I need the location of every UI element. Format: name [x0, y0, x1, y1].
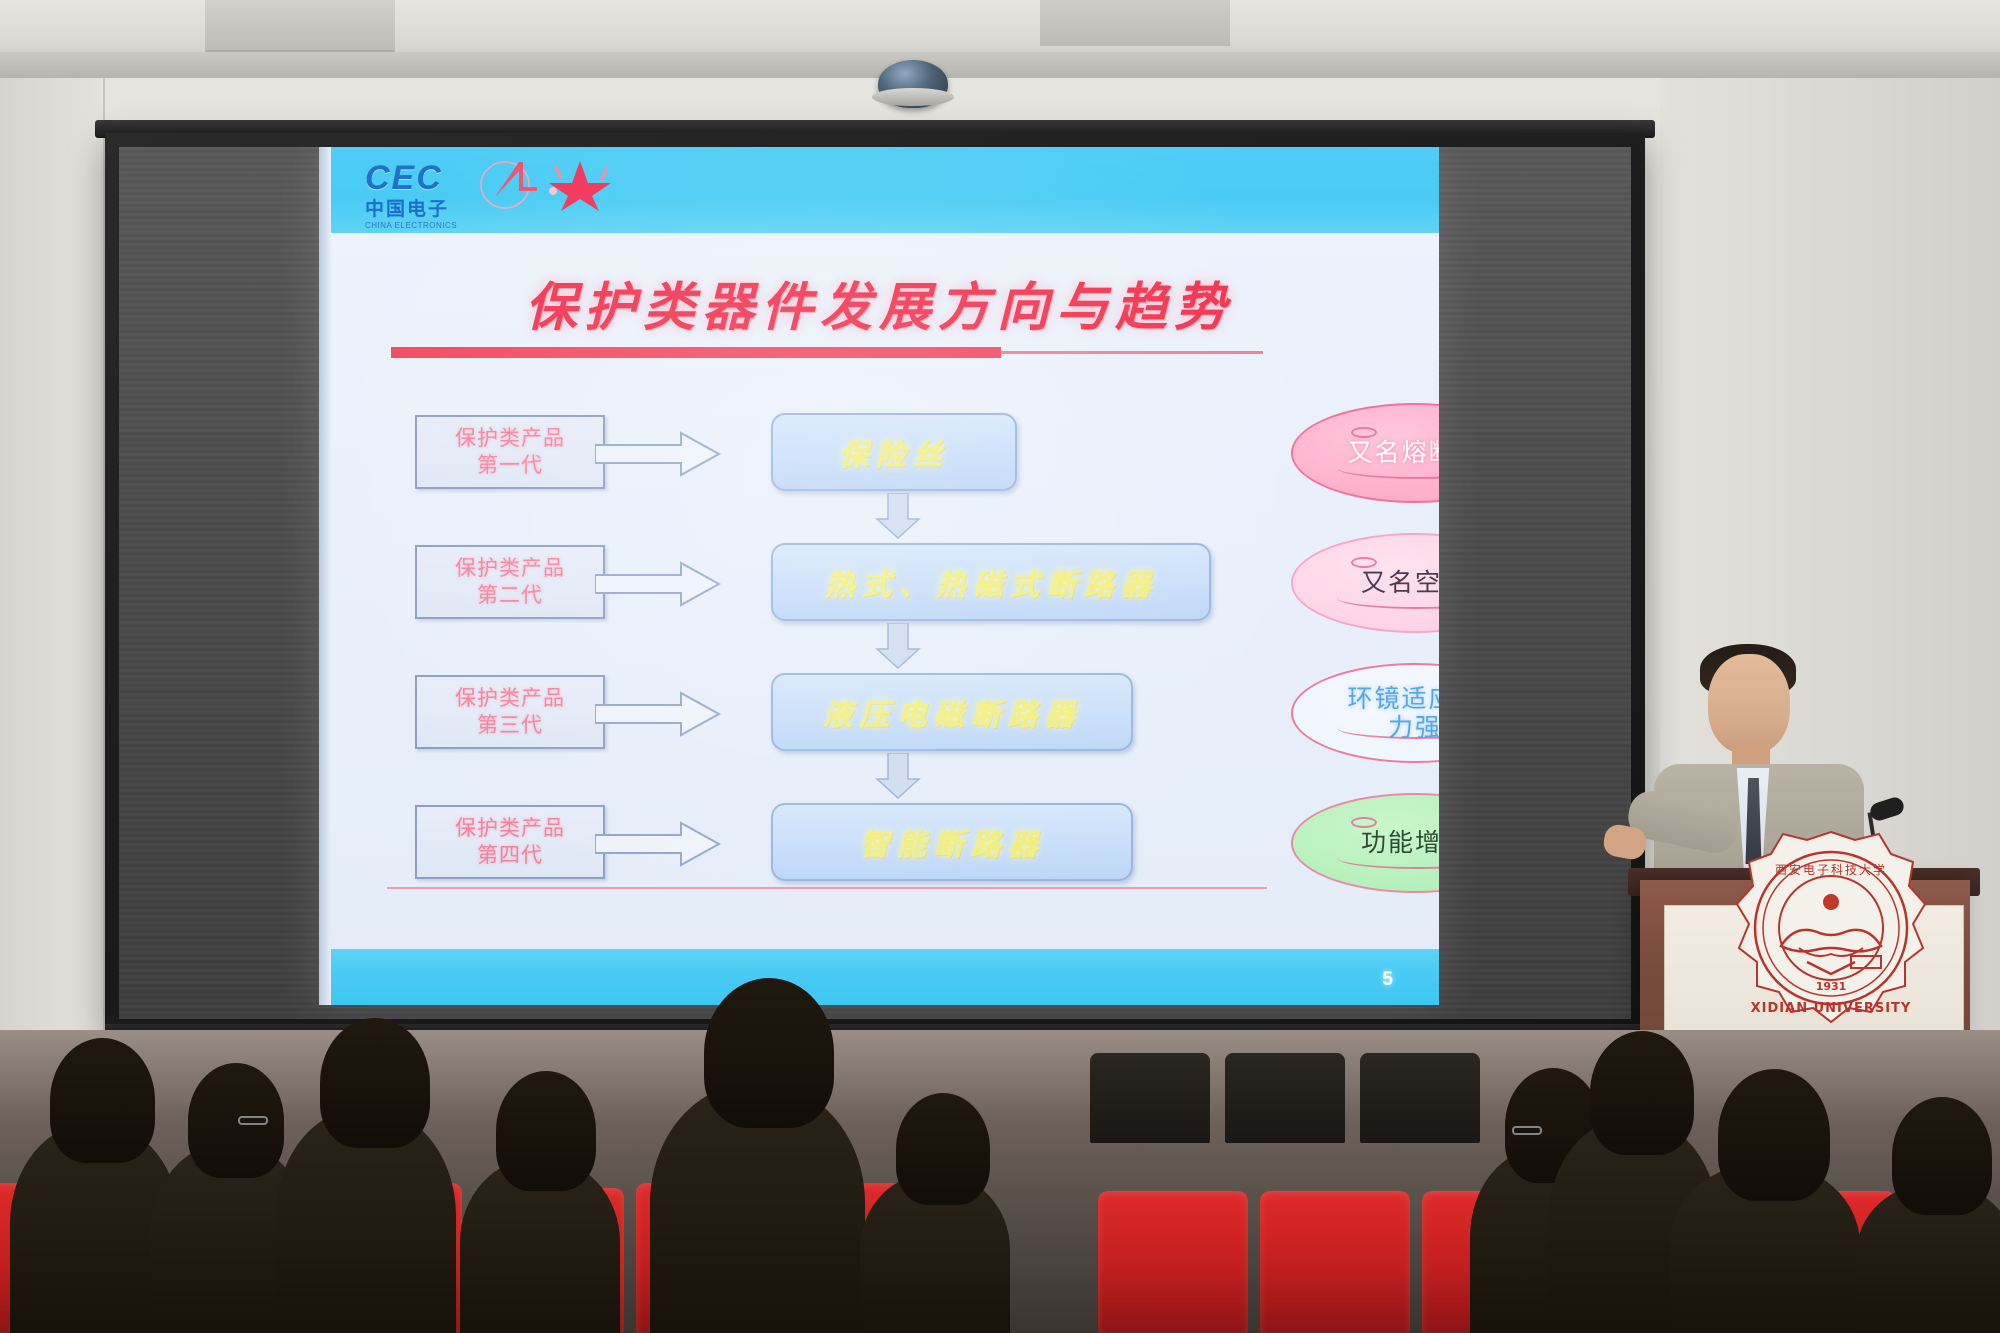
- seat: [1090, 1053, 1210, 1143]
- audience-member: [704, 978, 834, 1128]
- generation-label-line1: 保护类产品: [455, 425, 565, 452]
- lecture-room: CEC 中国电子 CHINA ELECTRONICS: [0, 0, 2000, 1333]
- eyeglasses-icon: [1512, 1126, 1542, 1135]
- cec-logo-cn: 中国电子: [365, 200, 457, 219]
- arrow-right-icon: [595, 821, 721, 867]
- title-underline-thick: [391, 347, 1001, 358]
- ceiling-vent: [205, 0, 395, 52]
- arrow-right-icon: [595, 561, 721, 607]
- generation-label-line2: 第三代: [477, 712, 543, 739]
- diagram-row: 保护类产品 第二代 热式、热磁式断路器 又名空开: [319, 527, 1439, 657]
- face-eye-left-icon: [1351, 557, 1377, 568]
- product-label: 热式、热磁式断路器: [825, 560, 1158, 604]
- screen-surface: CEC 中国电子 CHINA ELECTRONICS: [119, 147, 1631, 1019]
- product-label: 智能断路器: [860, 820, 1045, 864]
- cec-logo: CEC 中国电子 CHINA ELECTRONICS: [365, 161, 457, 230]
- eyeglasses-icon: [238, 1116, 268, 1125]
- generation-label-box: 保护类产品 第三代: [415, 675, 605, 749]
- ceiling-vent-secondary: [1040, 0, 1230, 46]
- audience-member: [896, 1093, 990, 1205]
- face-smile-icon: [1337, 717, 1439, 739]
- generation-label-box: 保护类产品 第四代: [415, 805, 605, 879]
- generation-label-box: 保护类产品 第二代: [415, 545, 605, 619]
- arrow-right-icon: [595, 691, 721, 737]
- diagram-rows: 保护类产品 第一代 保险丝 又名熔断器: [319, 397, 1439, 917]
- generation-label-line2: 第一代: [477, 452, 543, 479]
- presentation-slide: CEC 中国电子 CHINA ELECTRONICS: [319, 147, 1439, 1005]
- cec-logo-en: CHINA ELECTRONICS: [365, 222, 457, 230]
- title-underline-thin: [1001, 351, 1263, 354]
- seat: [1098, 1191, 1248, 1333]
- camera-ring: [872, 88, 954, 106]
- product-box: 智能断路器: [771, 803, 1133, 881]
- generation-label-line1: 保护类产品: [455, 555, 565, 582]
- product-box: 液压电磁断路器: [771, 673, 1133, 751]
- slide-header-band: CEC 中国电子 CHINA ELECTRONICS: [331, 147, 1439, 233]
- generation-label-line1: 保护类产品: [455, 685, 565, 712]
- speaker-head: [1708, 654, 1790, 754]
- face-smile-icon: [1337, 847, 1439, 869]
- projection-screen: CEC 中国电子 CHINA ELECTRONICS: [105, 133, 1645, 1033]
- slide-title: 保护类器件发展方向与趋势: [319, 265, 1439, 340]
- star-icon: [545, 157, 615, 213]
- cec-logo-abbr: CEC: [365, 161, 457, 195]
- face-eye-left-icon: [1351, 817, 1377, 828]
- seat: [1360, 1053, 1480, 1143]
- xidian-logo-cn: 西安电子科技大学: [1775, 862, 1887, 877]
- audience-area: [0, 1030, 2000, 1333]
- ceiling-band: [0, 52, 2000, 78]
- note-ellipse: 又名熔断器: [1291, 403, 1439, 503]
- generation-label-box: 保护类产品 第一代: [415, 415, 605, 489]
- note-ellipse: 又名空开: [1291, 533, 1439, 633]
- slide-bottom-rule: [387, 887, 1267, 889]
- xidian-logo-year: 1931: [1816, 980, 1847, 993]
- slide-page-number: 5: [1382, 969, 1393, 991]
- diagram-row: 保护类产品 第一代 保险丝 又名熔断器: [319, 397, 1439, 527]
- audience-member: [320, 1018, 430, 1148]
- diagram-row: 保护类产品 第四代 智能断路器 功能增加: [319, 787, 1439, 917]
- xidian-university-logo: 1931 XIDIAN UNIVERSITY 西安电子科技大学: [1733, 828, 1929, 1028]
- product-box: 热式、热磁式断路器: [771, 543, 1211, 621]
- seat: [1225, 1053, 1345, 1143]
- audience-member: [188, 1063, 284, 1178]
- audience-member: [1718, 1069, 1830, 1201]
- audience-member: [496, 1071, 596, 1191]
- generation-label-line2: 第二代: [477, 582, 543, 609]
- diagram-row: 保护类产品 第三代 液压电磁断路器 环镜适应能 力强: [319, 657, 1439, 787]
- swoosh-icon: [479, 157, 541, 211]
- product-label: 液压电磁断路器: [823, 690, 1082, 734]
- wall-left-panel: [0, 78, 105, 1058]
- arrow-right-icon: [595, 431, 721, 477]
- product-label: 保险丝: [839, 430, 950, 474]
- generation-label-line2: 第四代: [477, 842, 543, 869]
- slide-footer-band: 5: [331, 949, 1439, 1005]
- product-box: 保险丝: [771, 413, 1017, 491]
- generation-label-line1: 保护类产品: [455, 815, 565, 842]
- audience-member: [1590, 1031, 1694, 1155]
- face-smile-icon: [1337, 587, 1439, 609]
- xidian-logo-text: XIDIAN UNIVERSITY: [1751, 1001, 1912, 1016]
- note-ellipse: 环镜适应能 力强: [1291, 663, 1439, 763]
- note-ellipse: 功能增加: [1291, 793, 1439, 893]
- face-eye-left-icon: [1351, 427, 1377, 438]
- audience-member: [1892, 1097, 1992, 1215]
- audience-member: [50, 1038, 155, 1163]
- seat: [1260, 1191, 1410, 1333]
- face-smile-icon: [1337, 457, 1439, 479]
- note-line1: 环镜适应能: [1347, 684, 1439, 714]
